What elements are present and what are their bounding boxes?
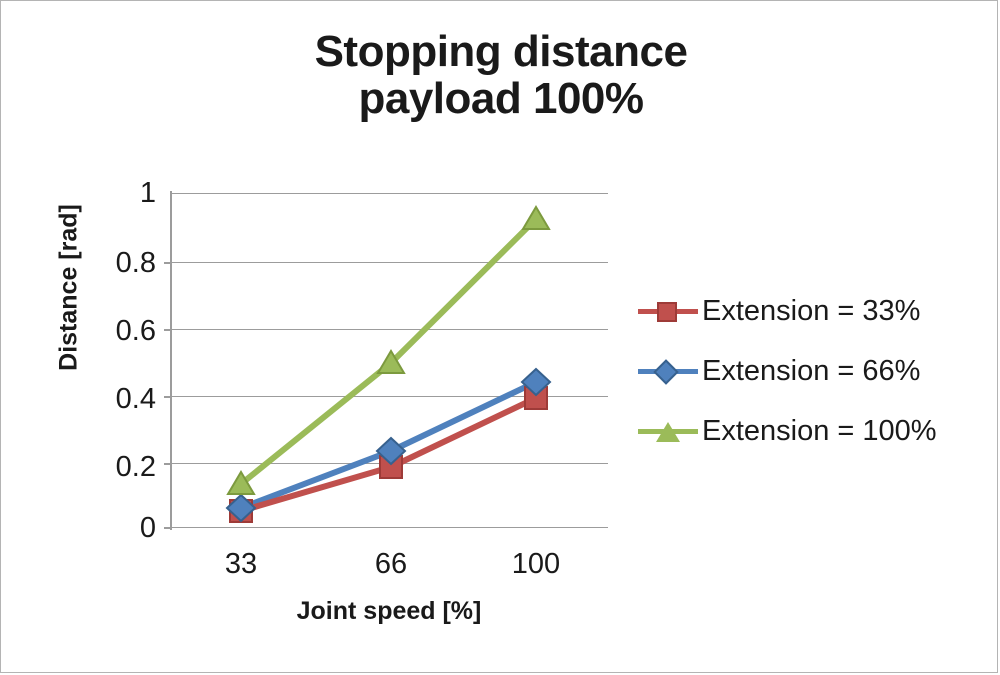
triangle-marker — [656, 422, 680, 442]
chart-frame: Stopping distance payload 100% 1 0.8 0.6… — [0, 0, 998, 673]
legend-label-extension-33: Extension = 33% — [702, 295, 920, 328]
data-point-extension-100 — [523, 207, 549, 229]
xtick-label-66: 66 — [331, 548, 451, 581]
legend-swatch-extension-66 — [638, 358, 698, 384]
chart-title-line2: payload 100% — [1, 76, 1000, 123]
ytick-label-0-2: 0.2 — [96, 451, 156, 484]
chart-title-line1: Stopping distance — [315, 27, 688, 76]
legend-item-extension-33[interactable]: Extension = 33% — [638, 281, 988, 341]
ytick-label-1: 1 — [96, 177, 156, 210]
xtick-label-33: 33 — [181, 548, 301, 581]
legend-swatch-extension-100 — [638, 418, 698, 444]
square-marker — [657, 302, 677, 322]
series-svg — [170, 193, 608, 528]
ytick-label-0-8: 0.8 — [96, 247, 156, 280]
ytick-label-0-4: 0.4 — [96, 383, 156, 416]
legend-label-extension-100: Extension = 100% — [702, 415, 937, 448]
chart-title: Stopping distance payload 100% — [1, 29, 1000, 122]
legend-swatch-extension-33 — [638, 298, 698, 324]
x-axis-title: Joint speed [%] — [171, 597, 607, 626]
legend-item-extension-100[interactable]: Extension = 100% — [638, 401, 988, 461]
y-axis-title: Distance [rad] — [55, 158, 84, 418]
legend-item-extension-66[interactable]: Extension = 66% — [638, 341, 988, 401]
ytick-label-0-6: 0.6 — [96, 315, 156, 348]
chart-legend: Extension = 33% Extension = 66% Extensio… — [638, 281, 988, 461]
plot-area — [170, 193, 608, 528]
diamond-marker — [653, 359, 678, 384]
ytick-label-0: 0 — [96, 512, 156, 545]
legend-label-extension-66: Extension = 66% — [702, 355, 920, 388]
xtick-label-100: 100 — [476, 548, 596, 581]
